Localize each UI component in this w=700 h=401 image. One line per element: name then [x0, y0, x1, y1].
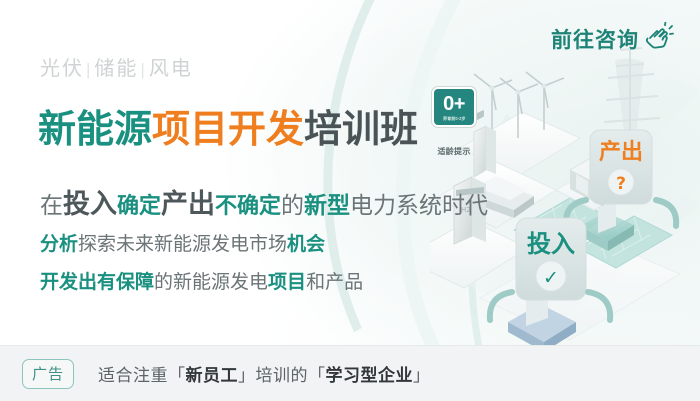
kicker-item-0: 光伏: [40, 58, 84, 80]
body-l1-s6: 的: [281, 192, 304, 218]
banner-area[interactable]: H2: [0, 0, 700, 345]
ad-tagline: 适合注重「新员工」培训的「学习型企业」: [98, 361, 431, 386]
body-line-3: 开发出有保障的新能源发电项目和产品: [40, 264, 488, 302]
age-rating-caption: 适龄提示: [437, 129, 470, 175]
ad-disclosure-bar[interactable]: 广告 适合注重「新员工」培训的「学习型企业」: [0, 345, 700, 401]
kicker-separator-0: |: [84, 60, 94, 79]
body-l2-s2: 探索未来新能源发电市场: [78, 234, 287, 255]
headline-part-3: 培训班: [304, 107, 418, 153]
kicker-separator-1: |: [138, 60, 148, 79]
sign-input-mark: ✓: [543, 267, 559, 289]
sign-input-label: 投入: [527, 230, 575, 258]
body-l1-s8: 电力系统时代: [350, 192, 488, 218]
body-l3-s4: 项目: [268, 272, 306, 293]
category-kicker: 光伏|储能|风电: [40, 52, 193, 81]
age-rating-box: 0+ 养育前0-2岁: [432, 87, 476, 127]
body-l3-s1: 开发出: [40, 272, 97, 293]
kicker-item-1: 储能: [94, 58, 138, 80]
body-l3-s3: 的新能源发电: [154, 272, 268, 293]
age-rating-badge: 0+ 养育前0-2岁 适龄提示: [432, 87, 476, 175]
body-l2-s1: 分析: [40, 234, 78, 255]
body-line-1: 在投入确定产出不确定的新型电力系统时代: [40, 184, 488, 226]
body-l1-s5: 不确定: [215, 193, 281, 218]
age-rating-sub: 养育前0-2岁: [443, 117, 466, 121]
body-l3-s2: 有保障: [97, 272, 154, 293]
headline-part-1: 新能源: [38, 107, 152, 153]
ad-tagline-before: 适合注重「: [98, 366, 186, 385]
ad-tagline-bold-1: 新员工: [186, 366, 239, 385]
ad-tagline-bold-2: 学习型企业: [326, 366, 414, 385]
tap-hand-icon: [644, 22, 674, 56]
headline-part-2: 项目开发: [152, 107, 304, 153]
age-rating-number: 0+: [443, 94, 465, 114]
ad-banner-root: H2: [0, 0, 700, 401]
consult-cta-button[interactable]: 前往咨询: [551, 22, 674, 56]
body-l1-s4: 产出: [161, 189, 215, 219]
ad-label-badge: 广告: [22, 359, 74, 389]
ad-tagline-after: 」: [413, 366, 431, 385]
kicker-item-2: 风电: [149, 58, 193, 80]
body-line-2: 分析探索未来新能源发电市场机会: [40, 226, 488, 264]
body-l1-s1: 在: [40, 192, 63, 218]
body-copy: 在投入确定产出不确定的新型电力系统时代 分析探索未来新能源发电市场机会 开发出有…: [40, 184, 488, 302]
body-l1-s3: 确定: [117, 193, 161, 218]
page-title: 新能源项目开发培训班 0+ 养育前0-2岁 适龄提示: [38, 86, 476, 174]
consult-cta-label: 前往咨询: [551, 24, 639, 54]
body-l3-s5: 和产品: [306, 272, 363, 293]
ad-tagline-middle: 」培训的「: [238, 366, 326, 385]
body-l2-s3: 机会: [287, 234, 325, 255]
sign-output-mark: ?: [616, 174, 626, 194]
body-l1-s7: 新型: [304, 192, 350, 218]
sign-output-label: 产出: [599, 140, 643, 165]
body-l1-s2: 投入: [63, 189, 117, 219]
